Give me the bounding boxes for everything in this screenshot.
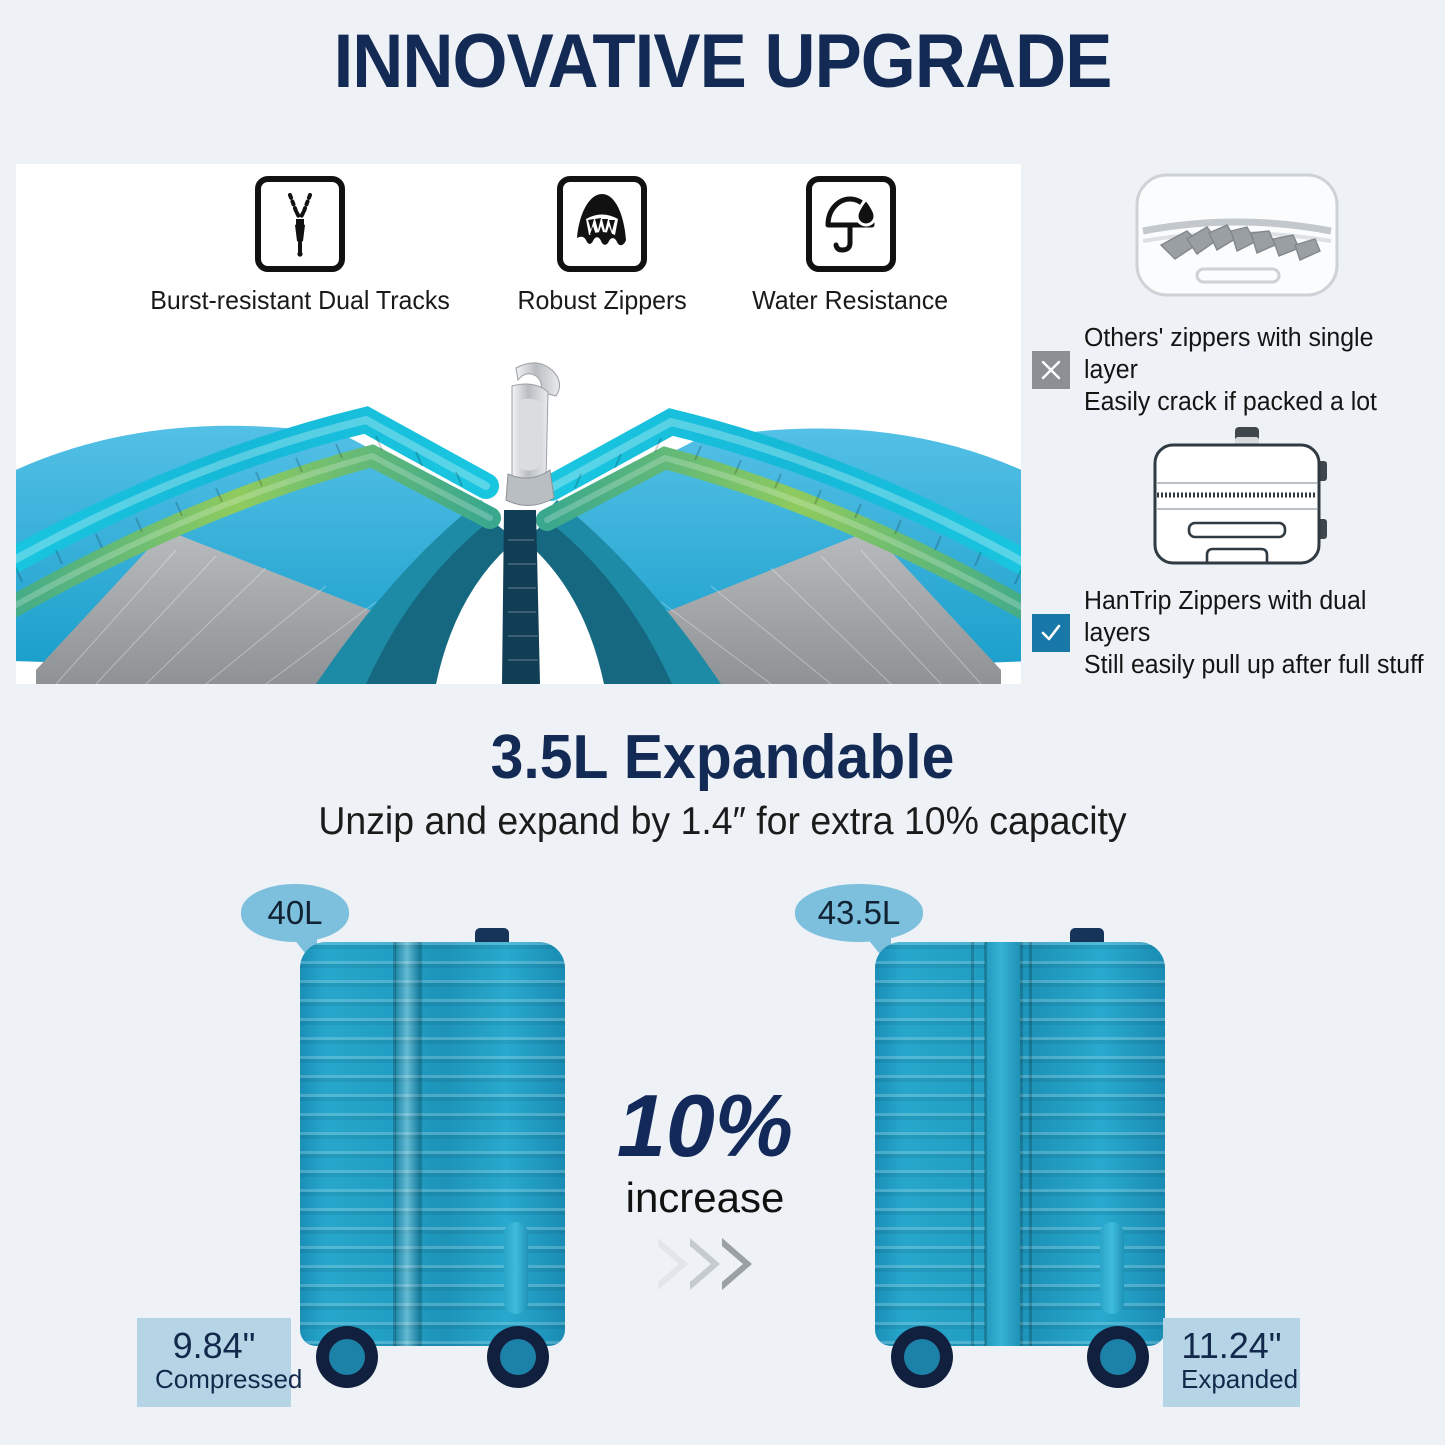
wheel (316, 1326, 378, 1388)
comparison-hantrip-row: HanTrip Zippers with dual layers Still e… (1032, 585, 1442, 681)
page-title: INNOVATIVE UPGRADE (51, 22, 1395, 102)
wheel (487, 1326, 549, 1388)
feature-burst-resistant-dual-tracks: Burst-resistant Dual Tracks (144, 176, 456, 316)
feature-label: Robust Zippers (518, 285, 687, 316)
zipper-icon (255, 176, 345, 272)
comparison-line-1: Others' zippers with single layer (1084, 322, 1433, 386)
expansion-panel (985, 942, 1020, 1346)
suitcase-compressed (300, 928, 565, 1388)
umbrella-water-drop-icon (806, 176, 896, 272)
feature-water-resistance: Water Resistance (748, 176, 952, 316)
panel-line (1020, 942, 1023, 1346)
panel-line (1029, 942, 1032, 1346)
suitcase-shell (875, 942, 1165, 1346)
check-icon (1032, 614, 1070, 652)
comparison-line-2: Still easily pull up after full stuff (1084, 649, 1433, 681)
center-seam (395, 942, 419, 1346)
comparison-hantrip: HanTrip Zippers with dual layers Still e… (1032, 425, 1442, 681)
zipper-photo-panel: Burst-resistant Dual Tracks (16, 164, 1021, 684)
badge-expanded: 11.24" Expanded (1163, 1318, 1300, 1407)
feature-label: Water Resistance (752, 285, 948, 316)
cross-icon (1032, 351, 1070, 389)
chevron-right-icon (690, 1238, 720, 1290)
comparison-others: Others' zippers with single layer Easily… (1032, 162, 1442, 418)
wheel (1087, 1326, 1149, 1388)
expandable-title: 3.5L Expandable (36, 722, 1409, 793)
comparison-others-text: Others' zippers with single layer Easily… (1084, 322, 1433, 418)
feature-robust-zippers: Robust Zippers (514, 176, 690, 316)
panel-line (984, 942, 987, 1346)
wheel (891, 1326, 953, 1388)
panel-line (419, 942, 422, 1346)
badge-value: 11.24" (1181, 1327, 1282, 1365)
others-zipper-illustration (1032, 162, 1442, 308)
comparison-line-2: Easily crack if packed a lot (1084, 386, 1433, 418)
chevron-arrows (600, 1238, 810, 1290)
comparison-hantrip-text: HanTrip Zippers with dual layers Still e… (1084, 585, 1433, 681)
increase-callout: 10% increase (600, 1082, 810, 1290)
side-grip (504, 1222, 528, 1314)
badge-caption: Expanded (1181, 1365, 1282, 1395)
suitcase-shell (300, 942, 565, 1346)
shark-jaw-icon (557, 176, 647, 272)
side-grip (1100, 1222, 1124, 1314)
dual-track-zipper-photo (16, 340, 1021, 684)
feature-icon-row: Burst-resistant Dual Tracks (16, 176, 1021, 316)
badge-compressed: 9.84" Compressed (137, 1318, 291, 1407)
chevron-right-icon (722, 1238, 752, 1290)
chevron-right-icon (658, 1238, 688, 1290)
increase-caption: increase (600, 1174, 810, 1222)
badge-value: 9.84" (155, 1327, 273, 1365)
panel-line (393, 942, 396, 1346)
comparison-others-row: Others' zippers with single layer Easily… (1032, 322, 1442, 418)
feature-label: Burst-resistant Dual Tracks (150, 285, 450, 316)
comparison-line-1: HanTrip Zippers with dual layers (1084, 585, 1433, 649)
suitcase-expanded (875, 928, 1165, 1388)
expandable-subtitle: Unzip and expand by 1.4″ for extra 10% c… (29, 800, 1416, 844)
panel-line (971, 942, 974, 1346)
hantrip-zipper-illustration (1032, 425, 1442, 571)
badge-caption: Compressed (155, 1365, 273, 1395)
increase-percent: 10% (600, 1082, 810, 1170)
